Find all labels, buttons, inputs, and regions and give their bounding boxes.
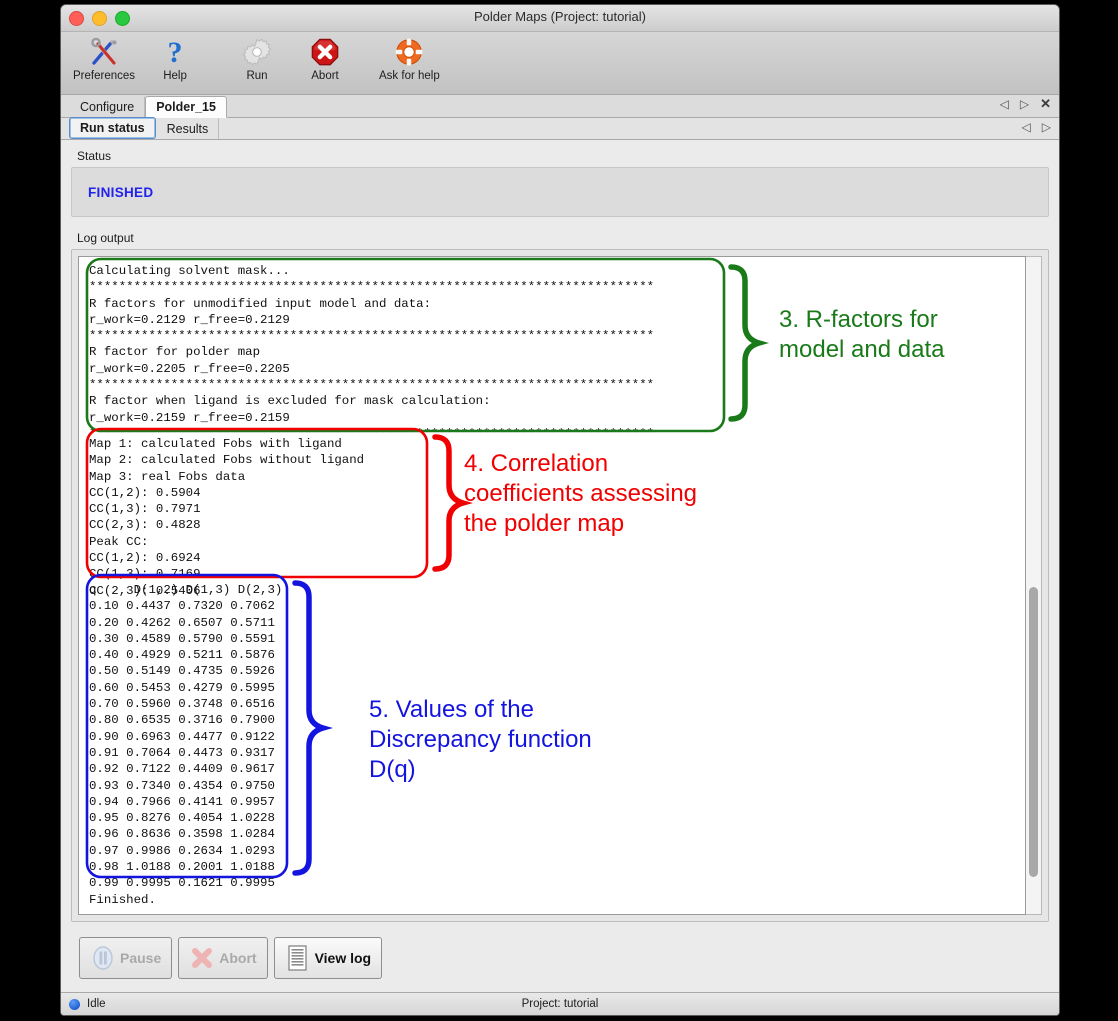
tab-next-icon[interactable]: ▷ [1042, 120, 1051, 134]
main-content: Status FINISHED Log output Calculating s… [61, 140, 1059, 992]
outer-tab-strip: Configure Polder_15 ◁ ▷ ✕ [61, 95, 1059, 118]
tab-next-icon[interactable]: ▷ [1020, 97, 1029, 111]
app-window: Polder Maps (Project: tutorial) Preferen… [60, 4, 1060, 1016]
inner-tab-strip: Run status Results ◁ ▷ [61, 118, 1059, 140]
tools-icon [88, 35, 120, 69]
close-icon[interactable]: ✕ [1040, 97, 1051, 111]
outer-tab-nav: ◁ ▷ ✕ [1000, 97, 1051, 111]
toolbar: Preferences ? Help Run [61, 32, 1059, 95]
log-scrollbar[interactable] [1026, 256, 1042, 915]
document-lines-icon [285, 944, 311, 972]
toolbar-button-help[interactable]: ? Help [141, 32, 209, 82]
tab-prev-icon[interactable]: ◁ [1000, 97, 1009, 111]
toolbar-label: Abort [311, 70, 339, 82]
log-scrollbar-thumb[interactable] [1029, 587, 1038, 877]
view-log-button[interactable]: View log [274, 937, 383, 979]
pause-button-label: Pause [120, 950, 161, 966]
window-title: Polder Maps (Project: tutorial) [61, 9, 1059, 24]
annotation-text-4: 4. Correlation coefficients assessing th… [464, 449, 697, 539]
status-bar: Idle Project: tutorial [61, 992, 1059, 1015]
pause-button[interactable]: Pause [79, 937, 172, 979]
log-text-area[interactable]: Calculating solvent mask... ************… [78, 256, 1026, 915]
tab-run-status[interactable]: Run status [69, 117, 156, 139]
annotation-text-5: 5. Values of the Discrepancy function D(… [369, 695, 592, 785]
toolbar-button-run[interactable]: Run [223, 32, 291, 82]
tab-results[interactable]: Results [156, 118, 220, 139]
status-badge: FINISHED [88, 185, 153, 200]
toolbar-label: Help [163, 70, 187, 82]
pause-icon [90, 945, 116, 971]
abort-button[interactable]: Abort [178, 937, 267, 979]
stop-x-icon [310, 35, 340, 69]
toolbar-label: Preferences [73, 70, 135, 82]
log-output-label: Log output [77, 231, 1049, 245]
toolbar-button-ask-for-help[interactable]: Ask for help [373, 32, 446, 82]
toolbar-label: Ask for help [379, 70, 440, 82]
toolbar-button-preferences[interactable]: Preferences [67, 32, 141, 82]
tab-configure[interactable]: Configure [69, 96, 145, 117]
view-log-button-label: View log [315, 950, 372, 966]
abort-button-label: Abort [219, 950, 256, 966]
inner-tab-nav: ◁ ▷ [1022, 120, 1051, 134]
x-cross-icon [189, 945, 215, 971]
status-bar-project: Project: tutorial [61, 998, 1059, 1010]
life-ring-icon [394, 35, 424, 69]
tab-polder-15[interactable]: Polder_15 [145, 96, 227, 118]
toolbar-button-abort[interactable]: Abort [291, 32, 359, 82]
status-panel: FINISHED [71, 167, 1049, 217]
svg-text:?: ? [168, 36, 183, 68]
log-output-panel: Calculating solvent mask... ************… [71, 249, 1049, 922]
action-button-bar: Pause Abort [71, 930, 1049, 992]
status-label: Status [77, 149, 1049, 163]
tab-prev-icon[interactable]: ◁ [1022, 120, 1031, 134]
gear-icon [242, 35, 272, 69]
toolbar-label: Run [246, 70, 267, 82]
annotation-text-3: 3. R-factors for model and data [779, 305, 944, 365]
title-bar: Polder Maps (Project: tutorial) [61, 5, 1059, 32]
question-mark-icon: ? [159, 35, 191, 69]
